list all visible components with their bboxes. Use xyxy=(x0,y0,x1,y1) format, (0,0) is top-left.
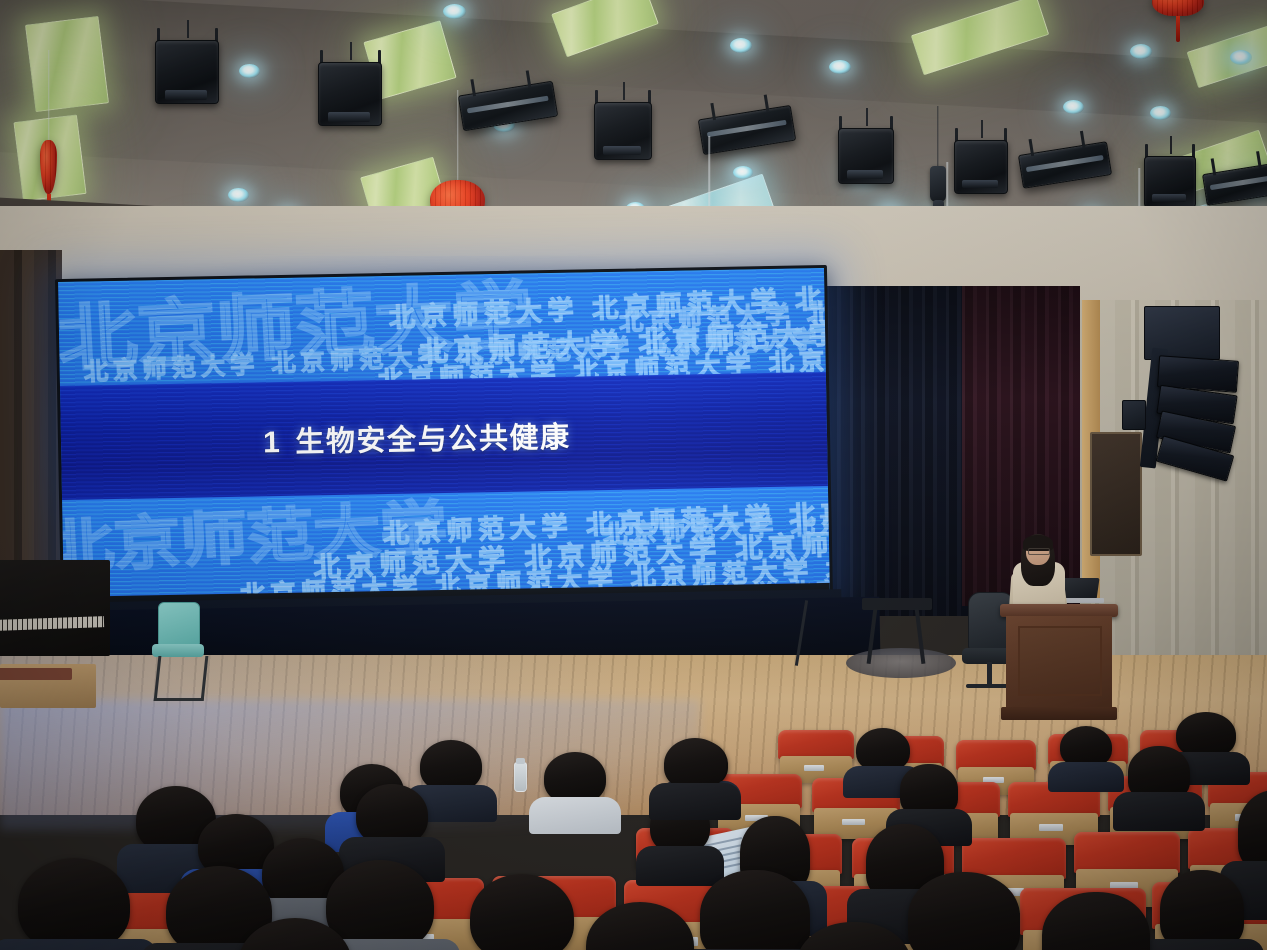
stage-light-3 xyxy=(594,96,654,164)
stage-light-5 xyxy=(954,134,1010,198)
list-item xyxy=(700,870,810,950)
list-item xyxy=(356,784,428,846)
right-side-window xyxy=(1090,432,1142,556)
downlight-1 xyxy=(239,64,260,78)
paper-lantern-6 xyxy=(1152,0,1204,16)
teal-chair[interactable] xyxy=(148,602,206,700)
stage-light-6 xyxy=(1144,150,1198,212)
auditorium-photo: 北京师范大学 北京师范大学 北京师范大学 北京师范大学 北京师范大学 北京师范大… xyxy=(0,0,1267,950)
slide-title: 1 生物安全与公共健康 xyxy=(263,414,571,462)
watermark-row-5: 北京师范大学 北京师范大学 北京师范大学 北京师范大学 北京师范大学 北京师范大… xyxy=(618,268,826,337)
piano xyxy=(0,560,114,710)
list-item xyxy=(420,740,482,792)
list-item xyxy=(796,922,912,950)
slide-number: 1 xyxy=(263,426,281,460)
list-item xyxy=(238,918,352,950)
slide-title-band: 1 生物安全与公共健康 xyxy=(60,372,828,502)
paper-lantern-1 xyxy=(40,140,57,194)
stage-light-2 xyxy=(318,56,384,130)
list-item xyxy=(1128,746,1190,800)
list-item xyxy=(586,902,694,950)
downlight-15 xyxy=(1150,106,1171,120)
list-item xyxy=(544,752,606,804)
wash-light-bar-2 xyxy=(698,105,796,155)
screen-watermark-top: 北京师范大学 北京师范大学 北京师范大学 北京师范大学 北京师范大学 北京师范大… xyxy=(58,268,826,386)
downlight-13 xyxy=(1230,50,1252,65)
ceiling-troffer-1 xyxy=(25,16,109,112)
wash-light-bar-3 xyxy=(1018,141,1112,189)
downlight-8 xyxy=(730,38,752,53)
list-item xyxy=(1042,892,1150,950)
glasses-icon xyxy=(1028,548,1050,555)
list-item xyxy=(900,764,958,816)
wall-speaker xyxy=(1122,400,1146,430)
downlight-12 xyxy=(1130,44,1152,59)
downlight-14 xyxy=(1063,100,1084,114)
list-item xyxy=(664,738,726,790)
list-item xyxy=(1060,726,1112,768)
downlight-10 xyxy=(829,60,851,74)
stage-light-4 xyxy=(838,122,896,188)
water-bottle xyxy=(514,762,527,792)
list-item xyxy=(18,858,130,950)
stage-curtain-navy xyxy=(826,286,972,616)
list-item xyxy=(1238,790,1267,872)
list-item xyxy=(1160,870,1244,950)
wash-light-bar-4 xyxy=(1202,162,1267,206)
stage-stool xyxy=(862,598,932,668)
list-item xyxy=(470,874,574,950)
led-screen[interactable]: 北京师范大学 北京师范大学 北京师范大学 北京师范大学 北京师范大学 北京师范大… xyxy=(55,265,833,611)
stage-light-1 xyxy=(155,34,221,108)
line-array-speaker xyxy=(1158,352,1242,502)
downlight-6 xyxy=(443,4,466,19)
list-item xyxy=(908,872,1020,950)
wash-light-bar-1 xyxy=(458,81,558,132)
slide-heading: 生物安全与公共健康 xyxy=(295,414,571,461)
audience-area xyxy=(0,712,1267,950)
lectern xyxy=(1006,604,1112,720)
downlight-2 xyxy=(228,188,249,202)
downlight-9 xyxy=(733,166,753,179)
